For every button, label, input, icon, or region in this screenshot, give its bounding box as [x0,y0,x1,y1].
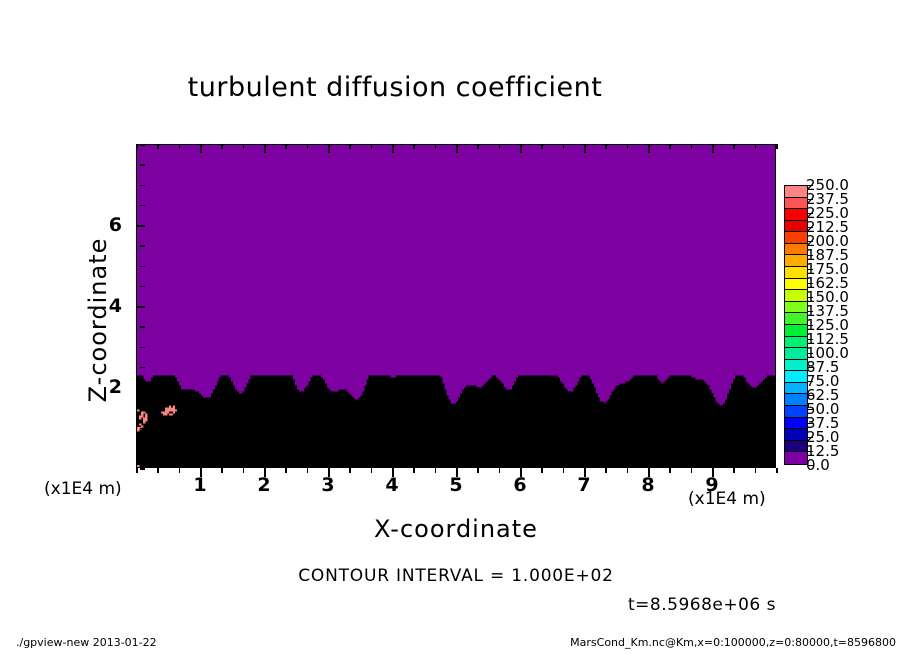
x-tick-top [627,144,629,149]
x-tick-minor [605,468,607,473]
x-tick-minor [776,468,778,473]
x-axis-ticks [136,144,776,478]
y-axis-ticks [126,144,146,468]
x-axis-tick-labels: 123456789 [136,474,776,500]
x-tick-label: 2 [257,474,270,496]
x-tick-top [541,144,543,149]
colorbar-band [785,267,807,279]
x-tick-minor [285,468,287,473]
colorbar-band [785,360,807,372]
y-tick-minor [140,448,145,450]
colorbar-band [785,209,807,221]
x-tick-minor [755,468,757,473]
x-tick-top [328,144,330,153]
y-tick-minor [140,205,145,207]
x-tick-top [669,144,671,149]
colorbar-band [785,429,807,441]
footer-dataset: MarsCond_Km.nc@Km,x=0:100000,z=0:80000,t… [570,636,896,649]
y-tick-minor [140,326,145,328]
x-tick-top [605,144,607,149]
x-tick-minor [691,468,693,473]
y-tick-minor [140,266,145,268]
x-tick-top [648,144,650,153]
x-tick-minor [307,468,309,473]
colorbar-band [785,313,807,325]
colorbar-band [785,232,807,244]
x-tick-top [285,144,287,149]
x-tick-top [413,144,415,149]
x-tick-minor [413,468,415,473]
colorbar-band [785,394,807,406]
colorbar-band [785,337,807,349]
x-tick-top [477,144,479,149]
x-tick-label: 4 [385,474,398,496]
time-annotation: t=8.5968e+06 s [628,595,776,615]
colorbar-band [785,418,807,430]
x-tick-top [499,144,501,149]
y-tick-minor [140,468,145,470]
x-tick-top [307,144,309,149]
colorbar-band [785,302,807,314]
x-tick-minor [349,468,351,473]
x-tick-label: 3 [321,474,334,496]
x-tick-top [392,144,394,153]
x-tick-top [435,144,437,149]
x-tick-minor [371,468,373,473]
colorbar-band [785,244,807,256]
x-tick-minor [243,468,245,473]
y-tick-minor [140,367,145,369]
colorbar-band [785,325,807,337]
y-axis-unit-label: (x1E4 m) [44,479,122,499]
x-tick-top [157,144,159,149]
x-tick-top [712,144,714,153]
colorbar-band [785,383,807,395]
x-tick-top [200,144,202,153]
x-tick-top [221,144,223,149]
colorbar-band [785,198,807,210]
x-tick-top [520,144,522,153]
y-tick-minor [140,245,145,247]
x-tick-minor [541,468,543,473]
x-tick-top [349,144,351,149]
x-tick-label: 7 [577,474,590,496]
x-tick-minor [157,468,159,473]
x-axis-unit-label: (x1E4 m) [688,489,766,509]
page-title: turbulent diffusion coefficient [0,72,790,103]
x-tick-label: 1 [193,474,206,496]
x-tick-top [584,144,586,153]
x-tick-minor [499,468,501,473]
x-tick-label: 8 [641,474,654,496]
colorbar-band [785,406,807,418]
x-tick-minor [435,468,437,473]
x-tick-top [371,144,373,149]
x-tick-top [456,144,458,153]
y-tick-minor [140,286,145,288]
colorbar-band [785,255,807,267]
x-tick-minor [477,468,479,473]
x-tick-top [563,144,565,149]
colorbar-band [785,371,807,383]
x-tick-top [776,144,778,149]
footer-command: ./gpview-new 2013-01-22 [16,636,157,649]
x-tick-minor [733,468,735,473]
colorbar-labels: 250.0237.5225.0212.5200.0187.5175.0162.5… [806,185,876,465]
x-axis-title: X-coordinate [136,515,776,543]
x-tick-top [264,144,266,153]
y-tick-major [136,306,145,308]
colorbar-band [785,186,807,198]
y-tick-minor [140,164,145,166]
colorbar-band [785,441,807,453]
x-tick-top [243,144,245,149]
y-tick-minor [140,185,145,187]
y-tick-minor [140,407,145,409]
x-tick-minor [563,468,565,473]
contour-interval-note: CONTOUR INTERVAL = 1.000E+02 [136,566,776,586]
colorbar-band [785,452,807,464]
x-tick-minor [669,468,671,473]
x-tick-label: 5 [449,474,462,496]
colorbar-band [785,221,807,233]
y-axis-title: Z-coordinate [84,200,112,440]
colorbar-tick-label: 0.0 [806,456,830,474]
colorbar-band [785,290,807,302]
x-tick-minor [221,468,223,473]
x-tick-top [691,144,693,149]
x-tick-minor [179,468,181,473]
colorbar [784,185,808,465]
y-tick-minor [140,347,145,349]
x-tick-top [755,144,757,149]
colorbar-band [785,279,807,291]
x-tick-minor [627,468,629,473]
y-tick-major [136,387,145,389]
y-tick-minor [140,428,145,430]
y-tick-minor [140,144,145,146]
x-tick-minor [136,468,138,473]
x-tick-top [733,144,735,149]
colorbar-band [785,348,807,360]
y-tick-major [136,225,145,227]
x-tick-top [179,144,181,149]
x-tick-label: 6 [513,474,526,496]
